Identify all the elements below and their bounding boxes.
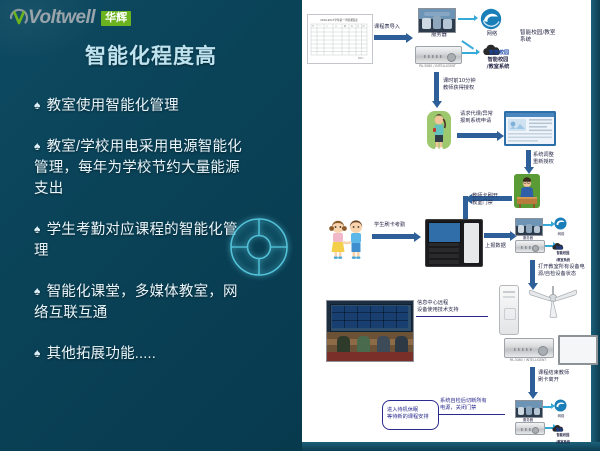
svg-text:日: 日 bbox=[363, 25, 365, 28]
list-item-label: 智能化课堂，多媒体教室，网络互联互通 bbox=[34, 284, 238, 321]
terminal-screen bbox=[428, 222, 461, 243]
list-item: ♠教室使用智能化管理 bbox=[34, 95, 244, 117]
workflow-diagram-panel: 2016-2017学年第一学期课程表 节一二 三四五 六日 bbox=[302, 0, 600, 451]
terminal-keypad bbox=[429, 243, 459, 264]
arrowhead-icon bbox=[432, 101, 442, 108]
label-upload-data: 上报数据 bbox=[485, 243, 515, 250]
admin-console-screen bbox=[504, 111, 556, 146]
decorative-ring-icon bbox=[222, 210, 296, 284]
connector-small-server-network bbox=[543, 406, 551, 408]
list-item: ♠教室/学校用电采用电源智能化管理，每年为学校节约大量能源支出 bbox=[34, 136, 244, 200]
projection-screen bbox=[558, 335, 598, 365]
arrow-students-to-terminal bbox=[372, 234, 414, 239]
list-item-label: 教室使用智能化管理 bbox=[47, 98, 179, 114]
arrow-teacher-to-console bbox=[457, 133, 497, 138]
arrow-devices-to-classroom bbox=[530, 260, 535, 284]
label-network: 网络 bbox=[482, 31, 502, 38]
voltwell-v-icon bbox=[8, 7, 30, 29]
label-auth-10min: 课时前10分钟 教师获得授权 bbox=[443, 78, 495, 92]
arrowhead-icon bbox=[406, 33, 413, 43]
label-standby-wait: 进入待机休眠 等待新的课程安排 bbox=[387, 407, 435, 421]
amp-indicator-dots bbox=[514, 348, 533, 351]
list-item: ♠其他拓展功能..... bbox=[34, 343, 244, 365]
arrow-class-end bbox=[530, 367, 535, 393]
svg-text:二: 二 bbox=[326, 25, 328, 28]
spade-bullet-icon: ♠ bbox=[34, 136, 41, 157]
control-room-photo bbox=[326, 300, 414, 362]
spreadsheet-icon: 2016-2017学年第一学期课程表 节一二 三四五 六日 bbox=[307, 14, 373, 64]
teacher-male-avatar bbox=[514, 174, 540, 213]
list-item: ♠学生考勤对应课程的智能化管理 bbox=[34, 219, 244, 262]
label-power-on-selfcheck: 打开教室所有设备电 源/自检设备状态 bbox=[538, 264, 596, 278]
amplifier-device bbox=[515, 422, 545, 435]
arrowhead-icon bbox=[476, 49, 480, 55]
server-room-photo bbox=[515, 218, 543, 236]
arrow-terminal-to-devices bbox=[484, 233, 510, 238]
connector-server-to-network bbox=[458, 18, 474, 20]
label-network: 网络 bbox=[552, 413, 570, 420]
arrowhead-icon bbox=[414, 232, 421, 242]
label-student-attendance: 学生刷卡考勤 bbox=[374, 222, 418, 229]
label-amplifier-model: PA-3080 / INTELLIGENT bbox=[415, 63, 460, 70]
arrow-down-to-terminal bbox=[463, 196, 468, 220]
arrowhead-icon bbox=[497, 131, 504, 141]
svg-text:三: 三 bbox=[335, 25, 337, 28]
underline-divider bbox=[416, 316, 488, 317]
arrowhead-icon bbox=[528, 392, 538, 399]
standby-status-box: 进入待机休眠 等待新的课程安排 bbox=[382, 400, 439, 430]
svg-text:智能校园: 智能校园 bbox=[489, 49, 509, 56]
arrow-schedule-to-server bbox=[374, 35, 406, 40]
card-reader-icon bbox=[464, 223, 479, 263]
list-item-label: 教室/学校用电采用电源智能化管理，每年为学校节约大量能源支出 bbox=[34, 139, 242, 197]
access-control-terminal bbox=[425, 219, 483, 267]
logo-wordmark: Voltwell bbox=[28, 7, 95, 29]
arrowhead-icon bbox=[474, 15, 478, 21]
label-selfcheck-power-off: 系统自检后切断所有 电源，关闭门禁 bbox=[440, 398, 500, 412]
list-item: ♠智能化课堂，多媒体教室，网络互联互通 bbox=[34, 281, 244, 324]
connector-device-to-cloud bbox=[462, 52, 476, 54]
label-smart-classroom-system: 智能校园 /教室系统 bbox=[548, 432, 578, 446]
list-item-label: 学生考勤对应课程的智能化管理 bbox=[34, 222, 238, 259]
brand-logo: Voltwell 华辉 bbox=[8, 6, 131, 30]
logo-chinese-badge: 华辉 bbox=[101, 11, 131, 26]
arrowhead-icon bbox=[524, 167, 534, 174]
label-teacher-swipe-door: 教师卡刷开 教室门禁 bbox=[472, 193, 510, 207]
spade-bullet-icon: ♠ bbox=[34, 343, 41, 364]
server-room-photo bbox=[515, 400, 543, 418]
label-info-center-support: 信息中心远程 设备使用技术支持 bbox=[417, 300, 479, 314]
underline-divider bbox=[437, 414, 505, 415]
svg-text:一: 一 bbox=[319, 25, 321, 28]
bullet-list: ♠教室使用智能化管理 ♠教室/学校用电采用电源智能化管理，每年为学校节约大量能源… bbox=[34, 95, 244, 384]
amp-knob-icon bbox=[538, 346, 548, 356]
amp-knob-icon bbox=[447, 53, 456, 62]
server-room-photo bbox=[418, 8, 456, 33]
label-smart-classroom-system: 智能校园 /教室系统 bbox=[548, 250, 578, 264]
slide-root: Voltwell 华辉 智能化程度高 ♠教室使用智能化管理 ♠教室/学校用电采用… bbox=[0, 0, 600, 451]
svg-text:四: 四 bbox=[344, 25, 346, 28]
amplifier-device bbox=[415, 46, 462, 64]
panel-right-edge bbox=[591, 0, 600, 451]
page-title: 智能化程度高 bbox=[0, 40, 302, 70]
amp-indicator-dots bbox=[521, 246, 532, 249]
label-class-end-leave: 课程结束教师 刷卡离开 bbox=[538, 370, 580, 384]
amplifier-device bbox=[515, 240, 545, 253]
spade-bullet-icon: ♠ bbox=[34, 95, 41, 116]
arrow-console-to-admin bbox=[526, 150, 531, 168]
ceiling-fan bbox=[527, 286, 579, 323]
label-amplifier-model: PA-3080 / INTELLIGENT bbox=[504, 357, 552, 364]
connector-small-server-network bbox=[543, 224, 551, 226]
spade-bullet-icon: ♠ bbox=[34, 281, 41, 302]
left-content-panel: Voltwell 华辉 智能化程度高 ♠教室使用智能化管理 ♠教室/学校用电采用… bbox=[0, 0, 302, 451]
label-smart-classroom-system: 智能校园 /教室系统 bbox=[480, 57, 516, 71]
amp-knob-icon bbox=[532, 427, 539, 434]
spade-bullet-icon: ♠ bbox=[34, 219, 41, 240]
teacher-female-avatar bbox=[426, 110, 452, 155]
amp-indicator-dots bbox=[521, 428, 532, 431]
amplifier-device bbox=[504, 338, 554, 358]
label-schedule-import: 课程表导入 bbox=[374, 24, 414, 31]
connector-network-to-device bbox=[462, 40, 474, 49]
label-server: 服务器 bbox=[427, 32, 451, 39]
label-network: 网络 bbox=[552, 231, 570, 238]
students-pair-avatar bbox=[325, 218, 369, 265]
label-smart-campus-system: 智能校园/教室 系统 bbox=[520, 30, 568, 44]
list-item-label: 其他拓展功能..... bbox=[47, 346, 156, 362]
label-system-reauth: 系统调整 重新授权 bbox=[533, 152, 567, 166]
amp-indicator-dots bbox=[424, 55, 442, 58]
amp-knob-icon bbox=[532, 245, 539, 252]
arrow-to-teacher bbox=[434, 72, 439, 102]
svg-text:五: 五 bbox=[351, 25, 353, 28]
air-conditioner bbox=[499, 285, 519, 335]
svg-text:2016-2017学年第一学期课程表: 2016-2017学年第一学期课程表 bbox=[320, 18, 358, 22]
